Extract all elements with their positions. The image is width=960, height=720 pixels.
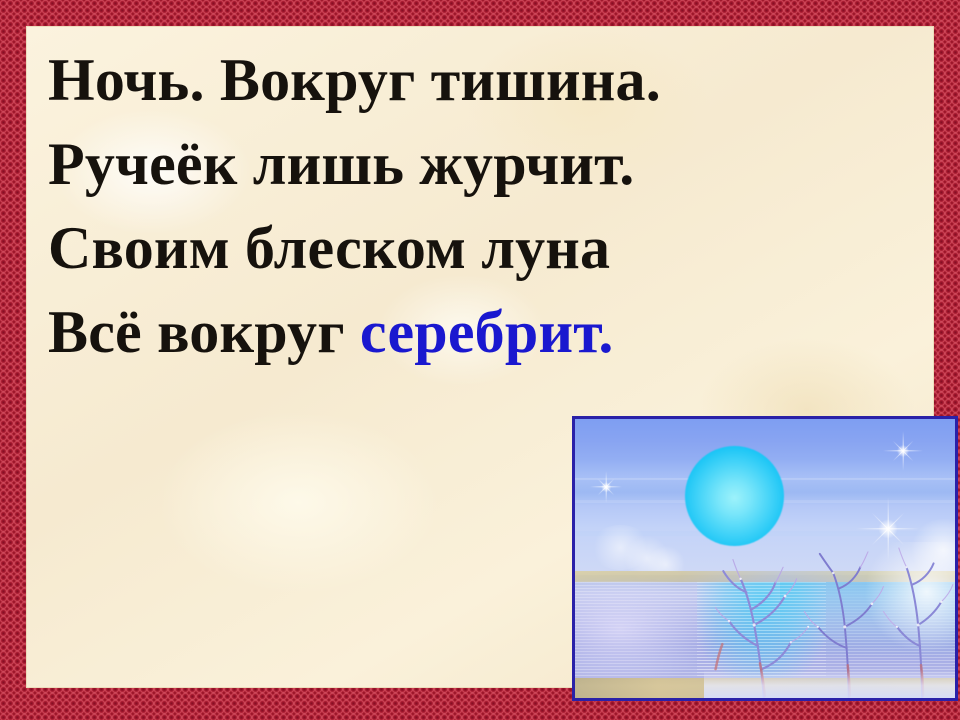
poem-line-4: Всё вокруг серебрит. <box>48 290 924 374</box>
parchment-panel: Ночь. Вокруг тишина. Ручеёк лишь журчит.… <box>26 26 934 688</box>
picture-canvas <box>575 419 955 698</box>
poem-line-1: Ночь. Вокруг тишина. <box>48 38 924 122</box>
frosted-branches <box>704 525 955 698</box>
poem-line-4-plain: Всё вокруг <box>48 299 360 365</box>
moonlit-night-picture <box>572 416 958 701</box>
poem-text-block: Ночь. Вокруг тишина. Ручеёк лишь журчит.… <box>48 38 924 374</box>
star-sparkle-icon <box>605 486 607 488</box>
poem-line-2: Ручеёк лишь журчит. <box>48 122 924 206</box>
slide: Ночь. Вокруг тишина. Ручеёк лишь журчит.… <box>0 0 960 720</box>
poem-accent-word: серебрит. <box>360 299 614 365</box>
poem-line-3: Своим блеском луна <box>48 206 924 290</box>
star-sparkle-icon <box>902 450 904 452</box>
